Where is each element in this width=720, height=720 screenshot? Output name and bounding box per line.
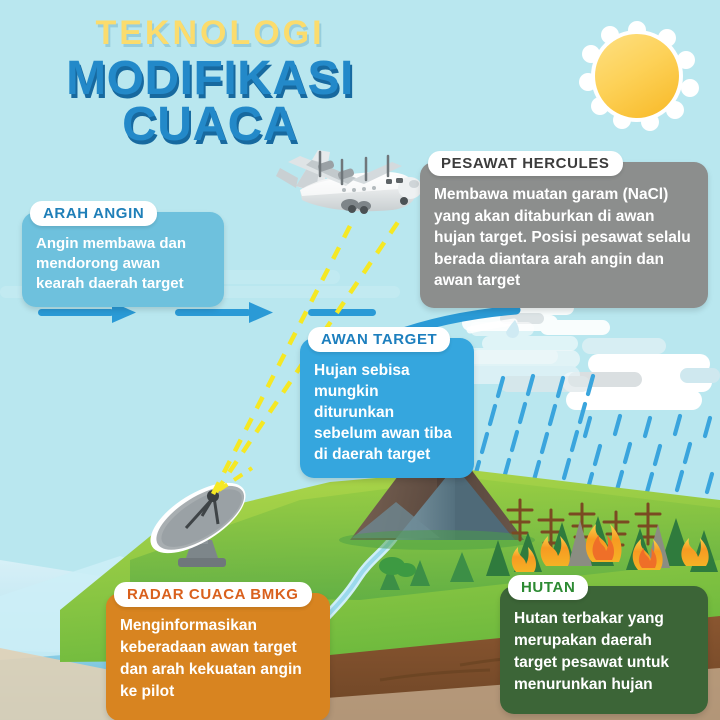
title-line-2: CUACA: [0, 100, 420, 150]
callout-radar-cuaca-bmkg-text: Menginformasikan keberadaan awan target …: [106, 593, 330, 720]
title-line-1: MODIFIKASI: [0, 54, 420, 104]
callout-pesawat-hercules-label: PESAWAT HERCULES: [428, 151, 623, 176]
callout-arah-angin-text: Angin membawa dan mendorong awan kearah …: [22, 212, 224, 307]
callout-radar-cuaca-bmkg-label: RADAR CUACA BMKG: [114, 582, 312, 607]
callout-arah-angin-label: ARAH ANGIN: [30, 201, 157, 226]
callout-radar-cuaca-bmkg[interactable]: RADAR CUACA BMKG Menginformasikan kebera…: [106, 593, 330, 720]
infographic-canvas: TEKNOLOGI MODIFIKASI CUACA ARAH ANGIN An…: [0, 0, 720, 720]
title-eyebrow: TEKNOLOGI: [0, 14, 420, 52]
callout-awan-target[interactable]: AWAN TARGET Hujan sebisa mungkin diturun…: [300, 338, 474, 478]
callout-awan-target-label: AWAN TARGET: [308, 327, 450, 352]
page-title: TEKNOLOGI MODIFIKASI CUACA: [0, 14, 420, 150]
callout-hutan-label: HUTAN: [508, 575, 588, 600]
wind-arrow-3: [308, 309, 376, 316]
callout-pesawat-hercules-text: Membawa muatan garam (NaCl) yang akan di…: [420, 162, 708, 308]
callout-pesawat-hercules[interactable]: PESAWAT HERCULES Membawa muatan garam (N…: [420, 162, 708, 308]
callout-hutan[interactable]: HUTAN Hutan terbakar yang merupakan daer…: [500, 586, 708, 714]
callout-hutan-text: Hutan terbakar yang merupakan daerah tar…: [500, 586, 708, 714]
callout-arah-angin[interactable]: ARAH ANGIN Angin membawa dan mendorong a…: [22, 212, 224, 307]
callout-awan-target-text: Hujan sebisa mungkin diturunkan sebelum …: [300, 338, 474, 478]
